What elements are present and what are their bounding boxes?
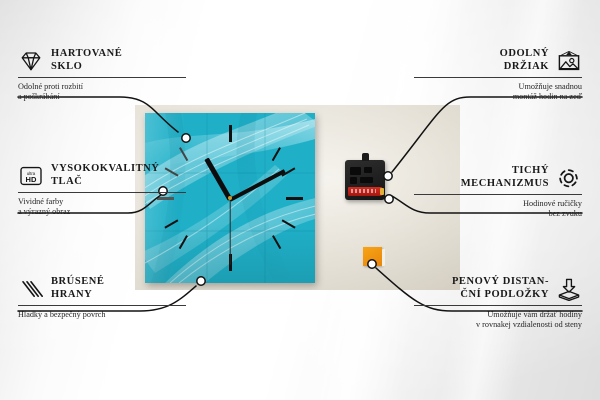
clock-tick — [229, 125, 232, 142]
feature-title: BRÚSENÉ HRANY — [51, 276, 104, 301]
svg-text:HD: HD — [26, 174, 37, 183]
picture-hanger-icon — [556, 49, 582, 73]
diamond-icon — [18, 49, 44, 73]
feature-header: BRÚSENÉ HRANY — [18, 276, 186, 301]
clock-center-cap — [228, 196, 232, 200]
feature-description: Hladký a bezpečný povrch — [18, 310, 186, 320]
mechanism-slot — [350, 167, 361, 175]
divider — [18, 77, 186, 78]
divider — [414, 77, 582, 78]
feature-title: HARTOVANÉ SKLO — [51, 48, 122, 73]
divider — [18, 305, 186, 306]
divider — [414, 305, 582, 306]
mechanism-slot — [350, 177, 357, 184]
feature-ground-edges: BRÚSENÉ HRANY Hladký a bezpečný povrch — [18, 276, 186, 320]
feature-title: ODOLNÝ DRŽIAK — [500, 48, 549, 73]
clock-tick — [286, 197, 303, 200]
feature-title: TICHÝ MECHANIZMUS — [461, 165, 549, 190]
feature-header: ODOLNÝ DRŽIAK — [414, 48, 582, 73]
feature-description: Odolné proti rozbití a poškrábání — [18, 82, 186, 102]
infographic-stage: HARTOVANÉ SKLO Odolné proti rozbití a po… — [0, 0, 600, 400]
feature-tempered-glass: HARTOVANÉ SKLO Odolné proti rozbití a po… — [18, 48, 186, 102]
feature-header: HARTOVANÉ SKLO — [18, 48, 186, 73]
foam-spacer-pad — [363, 247, 382, 266]
divider — [18, 192, 186, 193]
feature-high-quality-print: ultra HD VYSOKOKVALITNÝ TLAČ Vividné far… — [18, 163, 186, 217]
mechanism-slot — [364, 167, 372, 173]
ultra-hd-icon: ultra HD — [18, 164, 44, 188]
feature-foam-spacers: PENOVÝ DISTAN- ČNÍ PODLOŽKY Umožňuje vám… — [414, 276, 582, 330]
foam-spacer-icon — [556, 277, 582, 301]
feature-silent-mechanism: TICHÝ MECHANIZMUS Hod — [414, 165, 582, 219]
clock-second-hand — [229, 199, 230, 265]
feature-header: TICHÝ MECHANIZMUS — [414, 165, 582, 190]
gear-icon — [556, 166, 582, 190]
mechanism-battery — [348, 187, 382, 196]
mechanism-shaft — [362, 153, 369, 161]
mechanism-slot — [360, 177, 373, 183]
feature-description: Vividné farby a výrazný obraz — [18, 197, 186, 217]
ground-edges-icon — [18, 277, 44, 301]
feature-title: VYSOKOKVALITNÝ TLAČ — [51, 163, 159, 188]
feature-header: ultra HD VYSOKOKVALITNÝ TLAČ — [18, 163, 186, 188]
feature-description: Umožňuje vám držať hodiny v rovnakej vzd… — [414, 310, 582, 330]
divider — [414, 194, 582, 195]
feature-description: Umožňuje snadnou montáž hodin na zeď — [414, 82, 582, 102]
battery-terminal — [380, 188, 384, 195]
feature-description: Hodinové ručičky bez zvuku — [414, 199, 582, 219]
clock-mechanism — [345, 160, 385, 200]
feature-header: PENOVÝ DISTAN- ČNÍ PODLOŽKY — [414, 276, 582, 301]
battery-label — [351, 189, 376, 193]
feature-title: PENOVÝ DISTAN- ČNÍ PODLOŽKY — [452, 276, 549, 301]
feature-durable-holder: ODOLNÝ DRŽIAK Umožňuje snadnou montáž ho… — [414, 48, 582, 102]
